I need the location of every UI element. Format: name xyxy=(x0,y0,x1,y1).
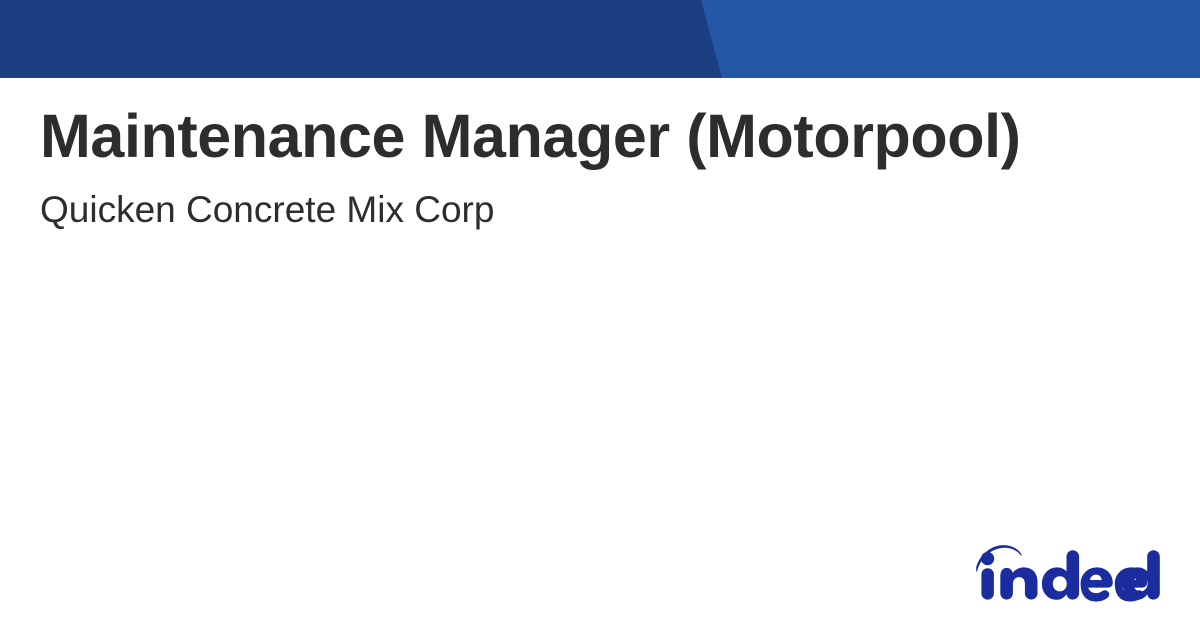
letter-i-dot xyxy=(981,552,994,565)
letter-e-1 xyxy=(1081,567,1113,601)
letter-i-stem xyxy=(981,568,994,599)
company-name: Quicken Concrete Mix Corp xyxy=(40,170,1160,232)
header-banner xyxy=(0,0,1200,78)
indeed-wordmark-icon xyxy=(974,540,1160,602)
job-share-card: Maintenance Manager (Motorpool) Quicken … xyxy=(0,0,1200,630)
job-info-block: Maintenance Manager (Motorpool) Quicken … xyxy=(40,78,1160,233)
letter-n xyxy=(1000,567,1037,599)
indeed-logo[interactable] xyxy=(974,540,1160,602)
banner-dark-segment xyxy=(0,0,760,78)
letter-d-1 xyxy=(1042,550,1079,600)
letter-d-2 xyxy=(1123,550,1160,600)
page-title: Maintenance Manager (Motorpool) xyxy=(40,78,1160,170)
